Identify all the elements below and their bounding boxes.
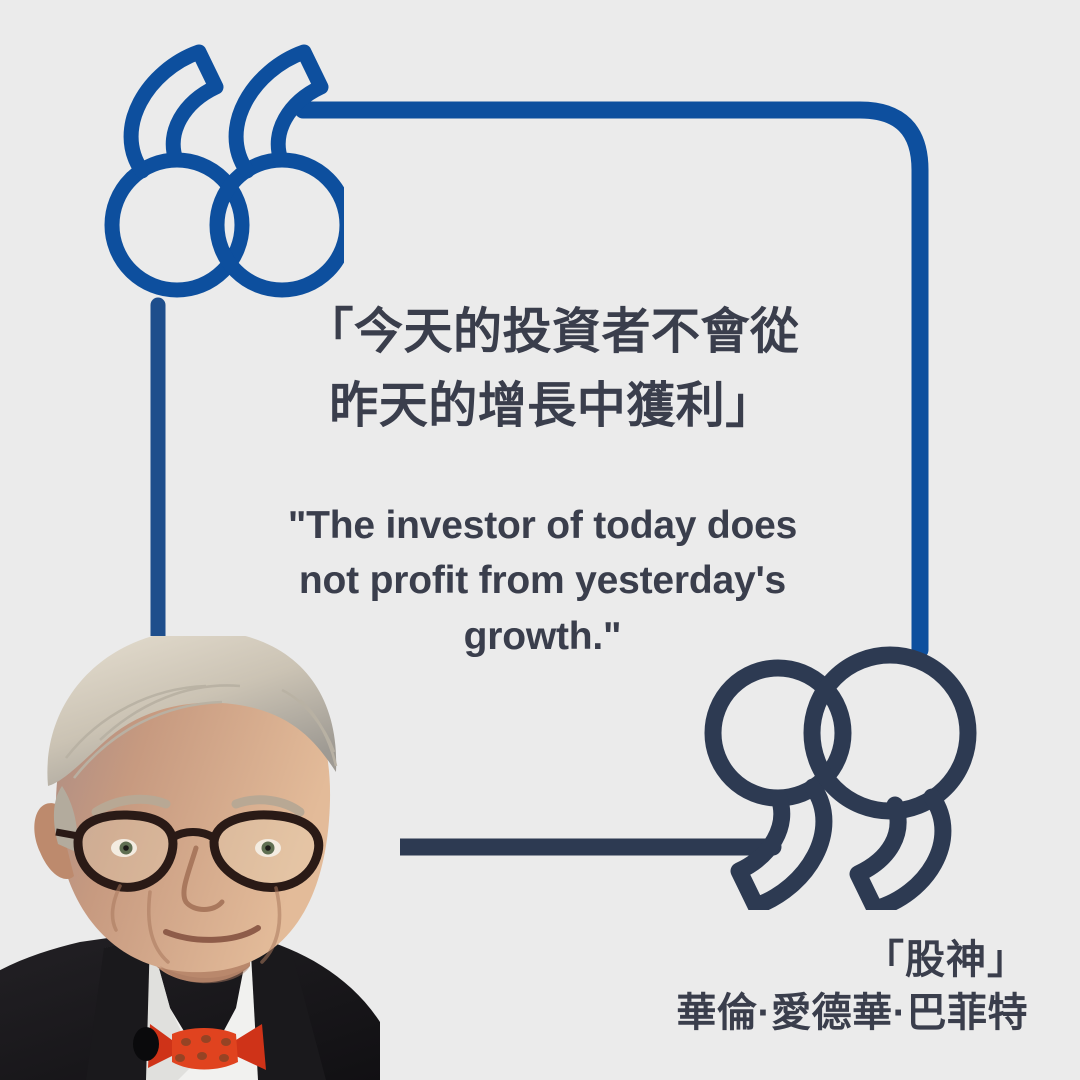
attribution-name: 華倫·愛德華·巴菲特 (508, 987, 1028, 1040)
portrait-illustration (0, 636, 400, 1080)
attribution: 「股神」 華倫·愛德華·巴菲特 (508, 934, 1028, 1040)
portrait-photo (0, 636, 400, 1080)
attribution-title: 「股神」 (508, 934, 1028, 987)
quote-english-line-1: "The investor of today does (230, 498, 855, 553)
quote-english-line-2: not profit from yesterday's (230, 553, 855, 608)
quote-english: "The investor of today does not profit f… (230, 498, 855, 664)
quote-english-line-3: growth." (230, 609, 855, 664)
lapel-microphone (133, 1027, 159, 1061)
quote-chinese-line-1: 「今天的投資者不會從 (252, 296, 852, 370)
quote-chinese: 「今天的投資者不會從 昨天的增長中獲利」 (252, 296, 852, 443)
quotation-mark-close-icon (700, 645, 985, 910)
quotation-mark-open-icon (104, 40, 344, 305)
quote-chinese-line-2: 昨天的增長中獲利」 (252, 370, 852, 444)
quote-card: 「今天的投資者不會從 昨天的增長中獲利」 "The investor of to… (0, 0, 1080, 1080)
